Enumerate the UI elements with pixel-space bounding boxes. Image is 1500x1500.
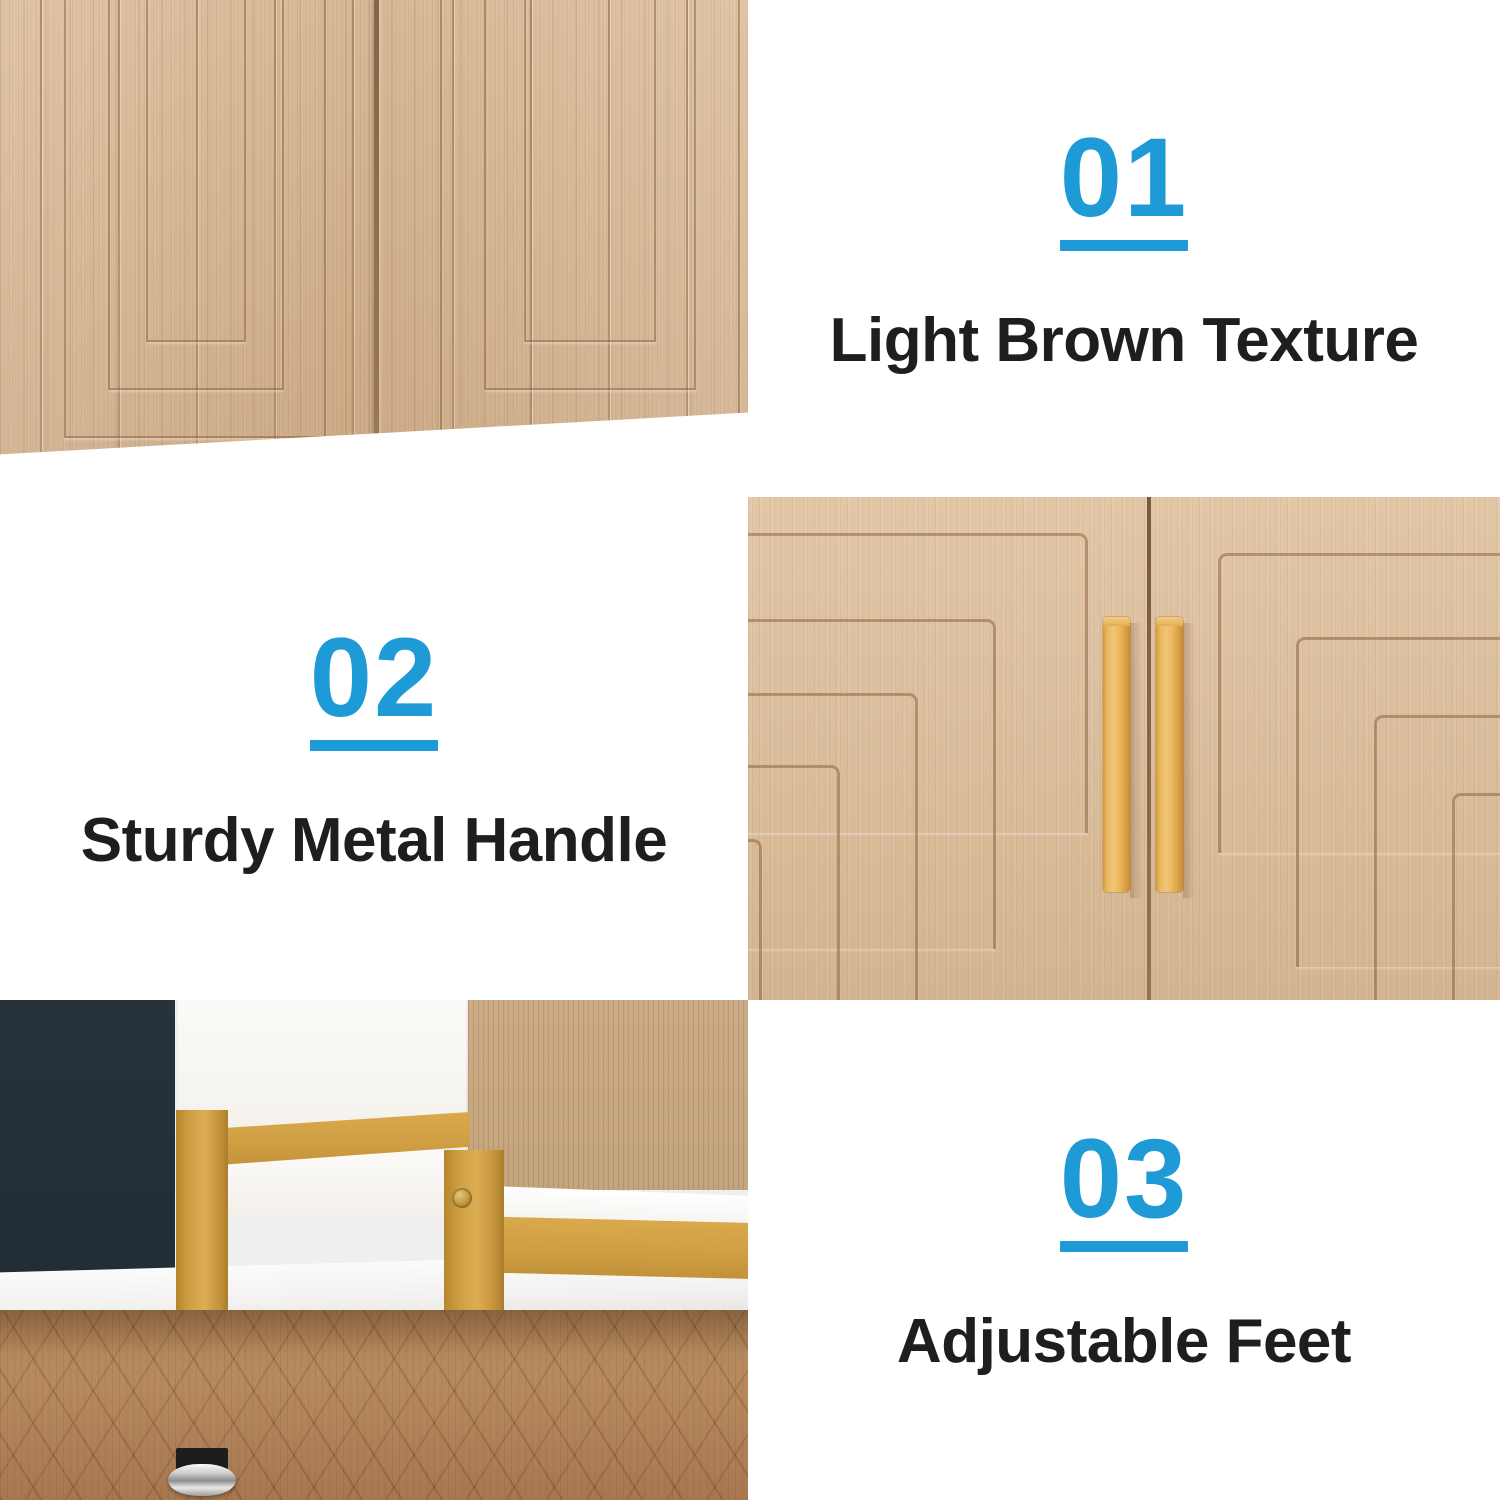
feature-number-block-03: 03 bbox=[1060, 1123, 1189, 1252]
groove-step bbox=[1452, 793, 1500, 1000]
feature-card-03: 03 Adjustable Feet bbox=[748, 1000, 1500, 1500]
herringbone-floor bbox=[0, 1310, 748, 1500]
handle-cap bbox=[1103, 617, 1130, 626]
groove-ring bbox=[146, 0, 246, 342]
cabinet-door-wood bbox=[468, 1000, 748, 1190]
frame-screw bbox=[452, 1188, 472, 1208]
door-seam bbox=[374, 0, 379, 497]
gold-bar-handle-left bbox=[1103, 617, 1130, 892]
door-seam bbox=[1147, 497, 1151, 1000]
handle-cap bbox=[1156, 617, 1183, 626]
feature-number-03: 03 bbox=[1060, 1123, 1189, 1235]
feature-number-underline-03 bbox=[1060, 1241, 1189, 1252]
feature-number-underline-02 bbox=[310, 740, 439, 751]
gold-frame-side-rail bbox=[465, 1216, 748, 1279]
feature-number-block-02: 02 bbox=[310, 622, 439, 751]
chrome-adjustable-foot-rear bbox=[168, 1464, 236, 1496]
groove-step bbox=[748, 839, 762, 1000]
photo-light-brown-texture bbox=[0, 0, 748, 497]
floor-shadow bbox=[0, 1310, 748, 1354]
feature-number-underline-01 bbox=[1060, 240, 1189, 251]
photo-sturdy-metal-handle bbox=[748, 497, 1500, 1000]
feature-card-02: 02 Sturdy Metal Handle bbox=[0, 497, 748, 1000]
feature-number-02: 02 bbox=[310, 622, 439, 734]
gold-bar-handle-right bbox=[1156, 617, 1183, 892]
feature-number-01: 01 bbox=[1060, 122, 1189, 234]
feature-caption-03: Adjustable Feet bbox=[897, 1306, 1351, 1377]
room-scene bbox=[0, 1000, 748, 1500]
wall-dark-teal bbox=[0, 1000, 175, 1280]
feature-card-01: 01 Light Brown Texture bbox=[748, 0, 1500, 497]
photo-adjustable-feet bbox=[0, 1000, 748, 1500]
feature-number-block-01: 01 bbox=[1060, 122, 1189, 251]
groove-ring bbox=[524, 0, 656, 342]
product-feature-infographic: 01 Light Brown Texture 02 Sturdy Metal H… bbox=[0, 0, 1500, 1500]
feature-caption-02: Sturdy Metal Handle bbox=[81, 805, 668, 876]
feature-caption-01: Light Brown Texture bbox=[830, 305, 1419, 376]
